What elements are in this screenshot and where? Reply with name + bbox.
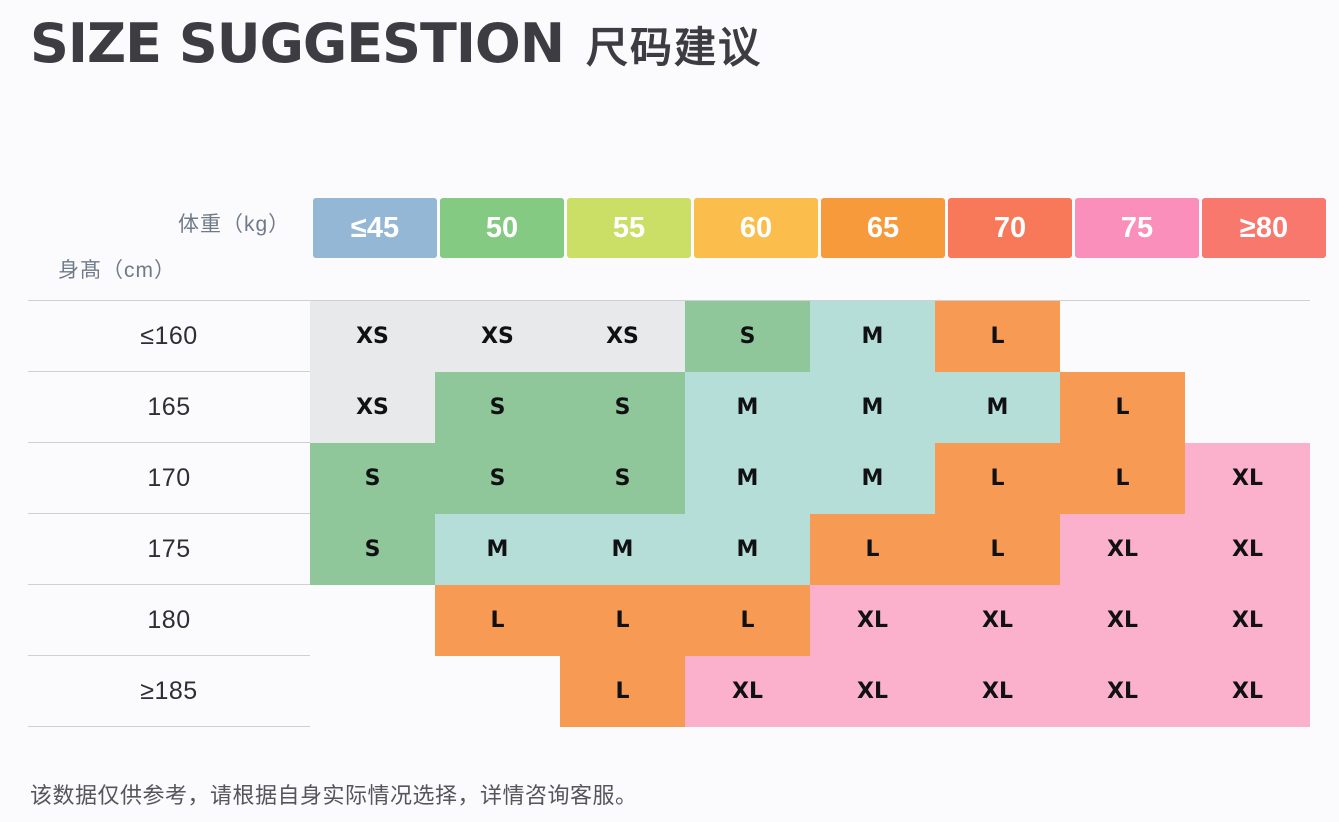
size-cell-5-6: XL [1060, 656, 1185, 727]
title-english: SIZE SUGGESTION [30, 12, 564, 75]
table-row: ≥185LXLXLXLXLXL [28, 656, 1310, 727]
size-cell-4-0 [310, 585, 435, 656]
size-cell-3-4: L [810, 514, 935, 585]
size-cell-2-3: M [685, 443, 810, 514]
size-cell-2-1: S [435, 443, 560, 514]
size-cell-3-6: XL [1060, 514, 1185, 585]
table-row: 165XSSSMMML [28, 372, 1310, 443]
row-cells: LXLXLXLXLXL [310, 656, 1310, 727]
size-cell-2-7: XL [1185, 443, 1310, 514]
size-cell-2-6: L [1060, 443, 1185, 514]
height-row-label-1: 165 [28, 372, 310, 443]
size-cell-1-4: M [810, 372, 935, 443]
table-row: 175SMMMLLXLXL [28, 514, 1310, 585]
size-cell-1-1: S [435, 372, 560, 443]
weight-header-3: 60 [694, 198, 818, 258]
size-cell-2-2: S [560, 443, 685, 514]
size-cell-4-1: L [435, 585, 560, 656]
size-grid: ≤160XSXSXSSML165XSSSMMML170SSSMMLLXL175S… [28, 301, 1310, 727]
size-cell-3-2: M [560, 514, 685, 585]
size-cell-0-4: M [810, 301, 935, 372]
size-cell-1-5: M [935, 372, 1060, 443]
size-cell-4-5: XL [935, 585, 1060, 656]
table-row: ≤160XSXSXSSML [28, 301, 1310, 372]
size-cell-0-1: XS [435, 301, 560, 372]
weight-header-strip: ≤45505560657075≥80 [313, 198, 1326, 258]
page-title: SIZE SUGGESTION 尺码建议 [30, 12, 762, 75]
size-cell-4-3: L [685, 585, 810, 656]
size-cell-4-4: XL [810, 585, 935, 656]
title-chinese: 尺码建议 [586, 14, 762, 75]
weight-header-2: 55 [567, 198, 691, 258]
footnote: 该数据仅供参考，请根据自身实际情况选择，详情咨询客服。 [30, 778, 638, 810]
table-row: 170SSSMMLLXL [28, 443, 1310, 514]
weight-header-6: 75 [1075, 198, 1199, 258]
size-cell-2-4: M [810, 443, 935, 514]
size-cell-3-3: M [685, 514, 810, 585]
size-cell-4-7: XL [1185, 585, 1310, 656]
row-cells: SMMMLLXLXL [310, 514, 1310, 585]
size-cell-0-2: XS [560, 301, 685, 372]
row-cells: SSSMMLLXL [310, 443, 1310, 514]
size-cell-0-3: S [685, 301, 810, 372]
size-cell-4-2: L [560, 585, 685, 656]
size-cell-0-6 [1060, 301, 1185, 372]
size-cell-1-0: XS [310, 372, 435, 443]
height-row-label-0: ≤160 [28, 301, 310, 372]
size-cell-5-3: XL [685, 656, 810, 727]
size-cell-2-0: S [310, 443, 435, 514]
size-cell-2-5: L [935, 443, 1060, 514]
height-row-label-3: 175 [28, 514, 310, 585]
row-cells: LLLXLXLXLXL [310, 585, 1310, 656]
size-cell-1-3: M [685, 372, 810, 443]
size-cell-1-7 [1185, 372, 1310, 443]
row-cells: XSSSMMML [310, 372, 1310, 443]
size-cell-4-6: XL [1060, 585, 1185, 656]
weight-header-1: 50 [440, 198, 564, 258]
height-row-label-2: 170 [28, 443, 310, 514]
weight-header-7: ≥80 [1202, 198, 1326, 258]
size-cell-5-5: XL [935, 656, 1060, 727]
weight-axis-caption: 体重（kg） [178, 208, 290, 238]
weight-header-4: 65 [821, 198, 945, 258]
size-cell-3-7: XL [1185, 514, 1310, 585]
size-cell-5-7: XL [1185, 656, 1310, 727]
size-cell-3-1: M [435, 514, 560, 585]
size-cell-3-5: L [935, 514, 1060, 585]
weight-header-0: ≤45 [313, 198, 437, 258]
size-cell-1-2: S [560, 372, 685, 443]
table-row: 180LLLXLXLXLXL [28, 585, 1310, 656]
row-cells: XSXSXSSML [310, 301, 1310, 372]
weight-header-5: 70 [948, 198, 1072, 258]
size-cell-0-0: XS [310, 301, 435, 372]
height-row-label-4: 180 [28, 585, 310, 656]
size-cell-5-0 [310, 656, 435, 727]
size-cell-1-6: L [1060, 372, 1185, 443]
size-cell-0-7 [1185, 301, 1310, 372]
size-cell-5-1 [435, 656, 560, 727]
size-cell-5-2: L [560, 656, 685, 727]
height-row-label-5: ≥185 [28, 656, 310, 727]
size-cell-3-0: S [310, 514, 435, 585]
size-cell-0-5: L [935, 301, 1060, 372]
height-axis-caption: 身髙（cm） [58, 254, 176, 284]
size-cell-5-4: XL [810, 656, 935, 727]
